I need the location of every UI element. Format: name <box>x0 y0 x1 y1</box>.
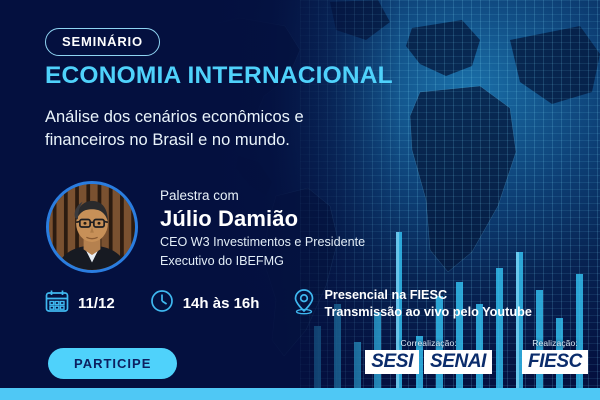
event-place-lines: Presencial na FIESC Transmissão ao vivo … <box>324 287 532 320</box>
event-info-row: 11/12 14h às 16h <box>44 287 532 320</box>
calendar-icon <box>44 288 70 319</box>
corealizacao-group: Correalização: SESI SENAI <box>365 338 492 374</box>
speaker-role-line-1: CEO W3 Investimentos e Presidente <box>160 234 365 251</box>
banner-subtitle: Análise dos cenários econômicos e financ… <box>45 106 375 152</box>
location-pin-icon <box>291 287 317 320</box>
event-place-line-2: Transmissão ao vivo pelo Youtube <box>324 304 532 321</box>
corealizacao-logo-row: SESI SENAI <box>365 350 492 374</box>
participate-button[interactable]: PARTICIPE <box>48 348 177 379</box>
senai-logo: SENAI <box>424 350 492 374</box>
sponsor-logos: Correalização: SESI SENAI Realização: FI… <box>365 338 588 374</box>
event-place-line-1: Presencial na FIESC <box>324 287 532 304</box>
speaker-avatar <box>46 181 138 273</box>
bottom-accent-strip <box>0 388 600 400</box>
realizacao-caption: Realização: <box>522 338 588 348</box>
event-date-text: 11/12 <box>78 295 115 312</box>
realizacao-logo-row: FIESC <box>522 350 588 374</box>
event-time-text: 14h às 16h <box>183 295 260 312</box>
clock-icon <box>149 288 175 319</box>
speaker-name: Júlio Damião <box>160 206 365 232</box>
corealizacao-caption: Correalização: <box>365 338 492 348</box>
event-place: Presencial na FIESC Transmissão ao vivo … <box>291 287 532 320</box>
event-date: 11/12 <box>44 288 115 319</box>
banner-headline: ECONOMIA INTERNACIONAL <box>45 62 393 90</box>
speaker-prefix: Palestra com <box>160 188 365 205</box>
event-time: 14h às 16h <box>149 288 260 319</box>
speaker-details: Palestra com Júlio Damião CEO W3 Investi… <box>160 188 365 270</box>
banner-content: SEMINÁRIO ECONOMIA INTERNACIONAL Análise… <box>0 0 600 400</box>
seminar-promo-banner: SEMINÁRIO ECONOMIA INTERNACIONAL Análise… <box>0 0 600 400</box>
sesi-logo: SESI <box>365 350 419 374</box>
seminar-badge: SEMINÁRIO <box>45 28 160 56</box>
fiesc-logo: FIESC <box>522 350 588 374</box>
realizacao-group: Realização: FIESC <box>522 338 588 374</box>
speaker-role-line-2: Executivo do IBEFMG <box>160 253 365 270</box>
